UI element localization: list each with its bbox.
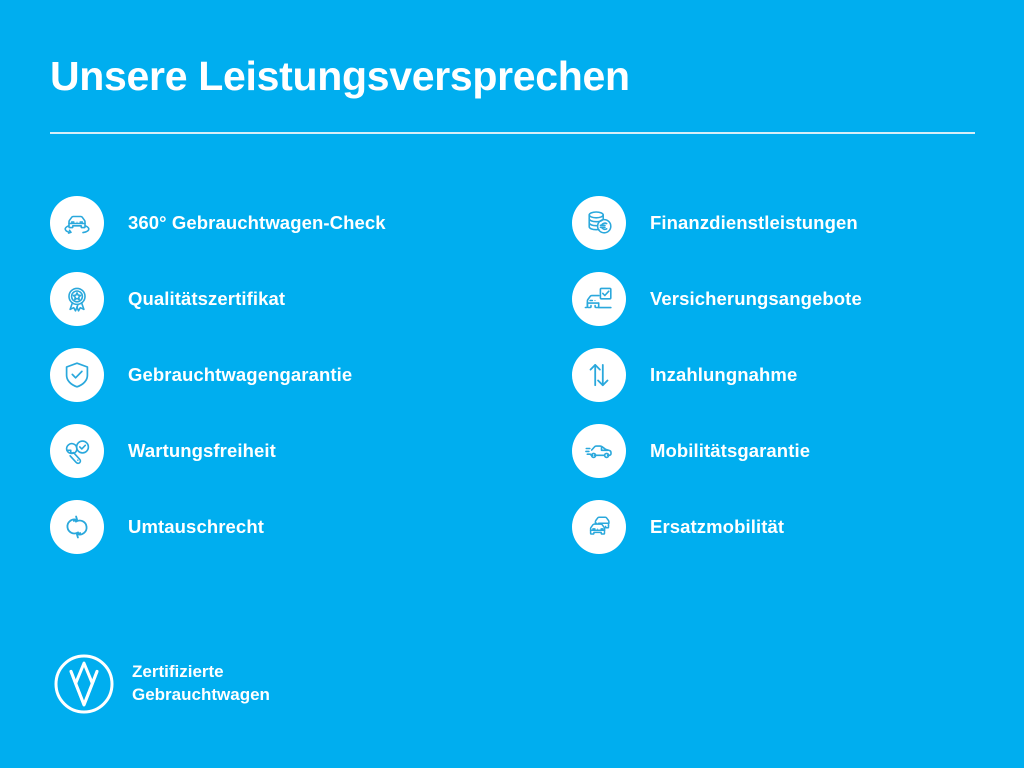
feature-item-exchange-right[interactable]: Umtauschrecht (50, 500, 490, 554)
feature-label: Inzahlungnahme (650, 364, 797, 386)
wrench-check-icon (50, 424, 104, 478)
feature-label: Ersatzmobilität (650, 516, 784, 538)
title-divider (50, 132, 975, 134)
feature-column-right: Finanzdienstleistungen Versicherungsange… (572, 196, 1012, 576)
feature-item-insurance[interactable]: Versicherungsangebote (572, 272, 1012, 326)
feature-item-replacement-mobility[interactable]: Ersatzmobilität (572, 500, 1012, 554)
car-checkbox-icon (572, 272, 626, 326)
brand-lockup: Zertifizierte Gebrauchtwagen (52, 652, 270, 716)
brand-line-1: Zertifizierte (132, 661, 270, 684)
feature-label: Qualitätszertifikat (128, 288, 285, 310)
feature-label: 360° Gebrauchtwagen-Check (128, 212, 386, 234)
feature-label: Wartungsfreiheit (128, 440, 276, 462)
feature-item-warranty[interactable]: Gebrauchtwagengarantie (50, 348, 490, 402)
feature-label: Versicherungsangebote (650, 288, 862, 310)
coins-euro-icon (572, 196, 626, 250)
feature-label: Finanzdienstleistungen (650, 212, 858, 234)
feature-item-trade-in[interactable]: Inzahlungnahme (572, 348, 1012, 402)
feature-column-left: 360° Gebrauchtwagen-Check Qualitätszerti… (50, 196, 490, 576)
feature-label: Umtauschrecht (128, 516, 264, 538)
feature-item-360-check[interactable]: 360° Gebrauchtwagen-Check (50, 196, 490, 250)
feature-item-mobility-guarantee[interactable]: Mobilitätsgarantie (572, 424, 1012, 478)
brand-text: Zertifizierte Gebrauchtwagen (132, 661, 270, 706)
award-rosette-icon (50, 272, 104, 326)
brand-line-2: Gebrauchtwagen (132, 684, 270, 707)
two-cars-icon (572, 500, 626, 554)
car-360-check-icon (50, 196, 104, 250)
arrows-up-down-icon (572, 348, 626, 402)
feature-item-maintenance-free[interactable]: Wartungsfreiheit (50, 424, 490, 478)
page-title: Unsere Leistungsversprechen (50, 53, 630, 100)
feature-item-quality-certificate[interactable]: Qualitätszertifikat (50, 272, 490, 326)
feature-item-financial-services[interactable]: Finanzdienstleistungen (572, 196, 1012, 250)
exchange-arrows-icon (50, 500, 104, 554)
promise-slide: { "theme": { "background": "#00AEEF", "t… (0, 0, 1024, 768)
feature-label: Gebrauchtwagengarantie (128, 364, 352, 386)
car-motion-icon (572, 424, 626, 478)
feature-label: Mobilitätsgarantie (650, 440, 810, 462)
shield-check-icon (50, 348, 104, 402)
volkswagen-logo-icon (52, 652, 116, 716)
